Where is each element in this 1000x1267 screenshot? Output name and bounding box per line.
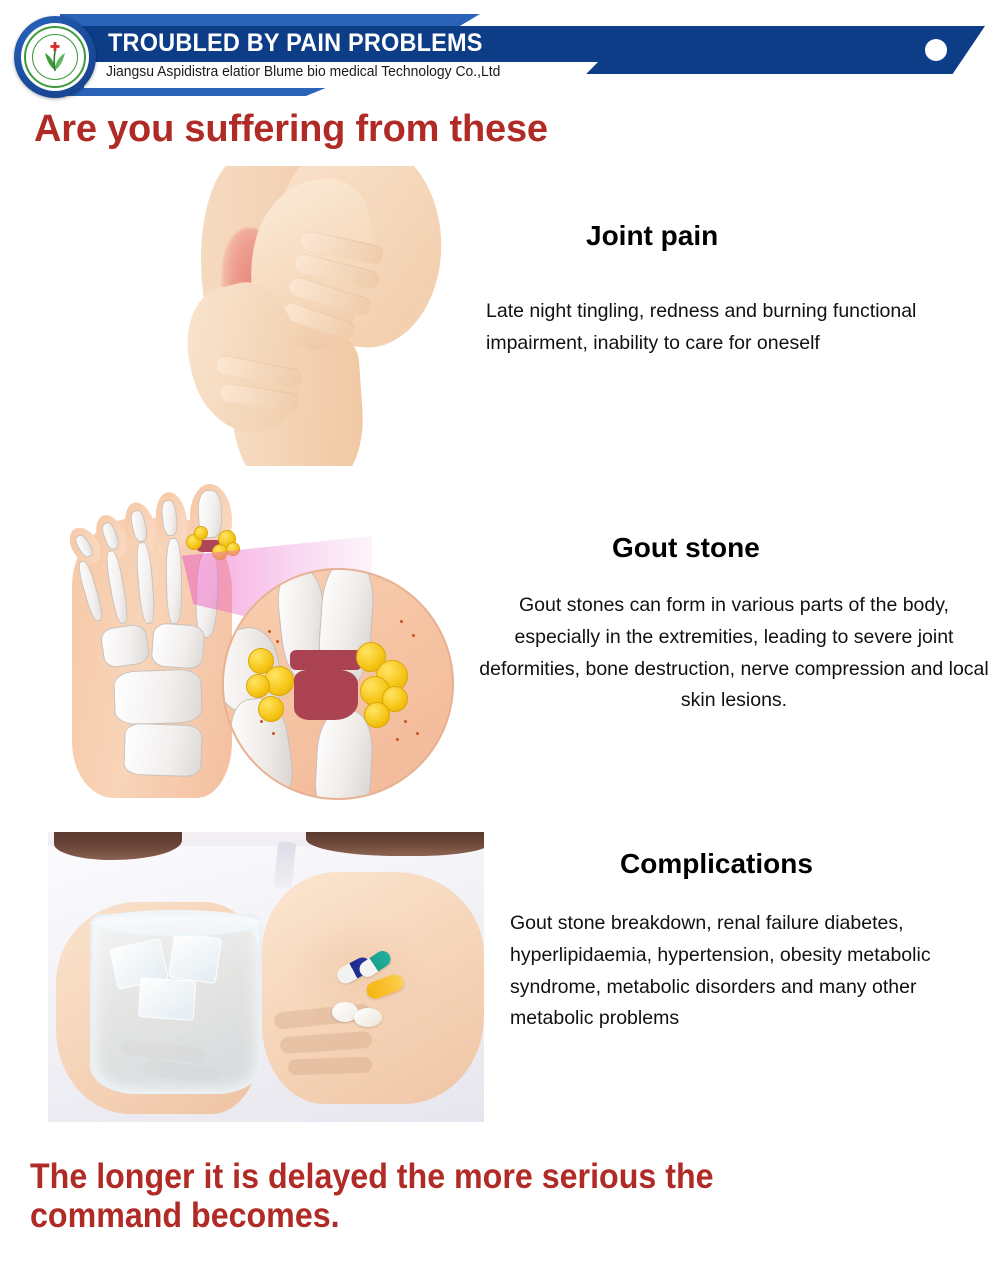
white-tablet xyxy=(354,1008,382,1027)
water-glass xyxy=(90,914,262,1094)
ice-cube xyxy=(168,932,222,984)
urate-speck xyxy=(396,738,399,741)
calcaneus-bone xyxy=(123,723,203,778)
ice-cube xyxy=(138,977,197,1021)
poster-page: TROUBLED BY PAIN PROBLEMS Jiangsu Aspidi… xyxy=(0,0,1000,1267)
section-body-joint-pain: Late night tingling, redness and burning… xyxy=(486,296,966,360)
urate-speck xyxy=(400,620,403,623)
gout-foot-image xyxy=(62,478,462,810)
closing-statement: The longer it is delayed the more seriou… xyxy=(30,1158,858,1235)
urate-speck xyxy=(272,732,275,735)
logo-inner-disc xyxy=(21,23,89,91)
tarsal-bone xyxy=(151,622,206,670)
urate-speck xyxy=(404,720,407,723)
logo-inner-ring xyxy=(32,34,78,80)
section-title-complications: Complications xyxy=(620,848,813,880)
inset-gout-crystal xyxy=(258,696,284,722)
header-title: TROUBLED BY PAIN PROBLEMS xyxy=(108,29,483,58)
inset-joint-erosion xyxy=(294,670,358,720)
tarsal-bone xyxy=(113,668,203,725)
company-logo xyxy=(14,16,96,98)
header-circle-decoration xyxy=(925,39,947,61)
glass-rim xyxy=(90,910,262,936)
inset-gout-crystal xyxy=(364,702,390,728)
urate-speck xyxy=(260,720,263,723)
urate-speck xyxy=(412,634,415,637)
section-title-joint-pain: Joint pain xyxy=(586,220,718,252)
gout-magnified-inset xyxy=(222,568,454,800)
page-header: TROUBLED BY PAIN PROBLEMS Jiangsu Aspidi… xyxy=(0,0,1000,106)
inset-joint-cartilage xyxy=(290,650,362,670)
header-subtitle: Jiangsu Aspidistra elatior Blume bio med… xyxy=(106,64,500,80)
urate-speck xyxy=(416,732,419,735)
inset-gout-crystal xyxy=(246,674,270,698)
page-title: Are you suffering from these xyxy=(34,108,548,151)
tarsal-bone xyxy=(99,623,150,669)
gout-crystal xyxy=(194,526,208,540)
urate-speck xyxy=(276,640,279,643)
section-body-complications: Gout stone breakdown, renal failure diab… xyxy=(510,908,972,1035)
section-body-gout-stone: Gout stones can form in various parts of… xyxy=(478,590,990,717)
urate-speck xyxy=(268,630,271,633)
knee-pain-image xyxy=(112,166,460,466)
finger-line xyxy=(288,1057,373,1076)
metatarsal-bone xyxy=(165,538,182,624)
pills-and-water-image xyxy=(48,832,484,1122)
section-title-gout-stone: Gout stone xyxy=(612,532,760,564)
